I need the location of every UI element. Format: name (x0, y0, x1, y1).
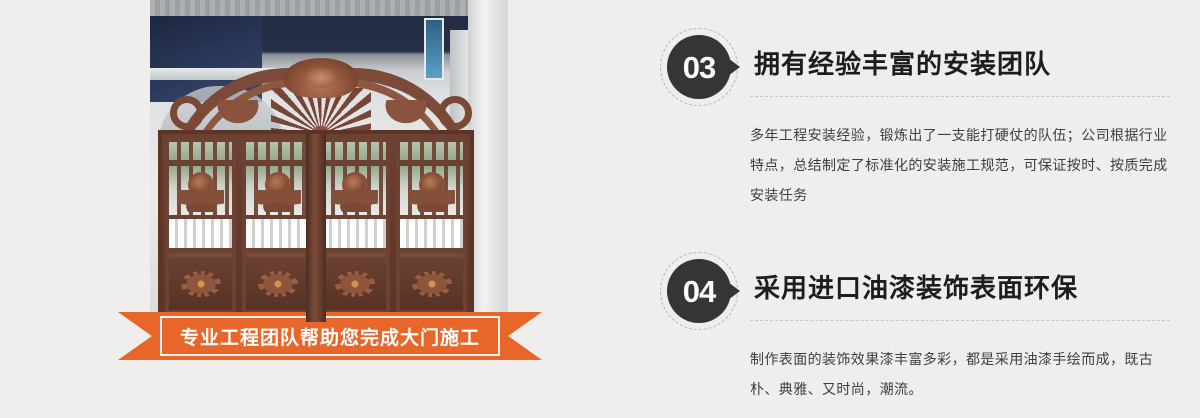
badge-disc: 04 (667, 259, 731, 323)
feature-description: 制作表面的装饰效果漆丰富多彩，都是采用油漆手绘而成，既古朴、典雅、又时尚，潮流。 (750, 344, 1170, 404)
gate-rosette (258, 271, 298, 297)
gate-base-panel (169, 253, 232, 310)
building-cornice (150, 0, 508, 16)
crown-scroll-right (438, 96, 472, 130)
gate-base-panel (323, 253, 386, 310)
feature-item-03: 03 拥有经验丰富的安装团队 多年工程安装经验，锻炼出了一支能打硬仗的队伍；公司… (660, 28, 1170, 210)
crown-leaf-right (380, 100, 432, 128)
gate-panel (165, 138, 236, 314)
feature-divider (750, 96, 1170, 97)
gate-medallion (409, 172, 455, 212)
gate-base-panel (246, 253, 309, 310)
gate-body (158, 130, 474, 322)
gate-panel (396, 138, 467, 314)
gate-balustrade (169, 215, 232, 253)
ribbon-banner: 专业工程团队帮助您完成大门施工 (118, 312, 542, 360)
badge-number: 04 (683, 276, 715, 307)
medallion-wings (178, 190, 224, 212)
feature-title: 采用进口油漆装饰表面环保 (754, 268, 1078, 305)
medallion-wings (255, 190, 301, 212)
gate-panel (242, 138, 313, 314)
crown-scroll-left (170, 96, 204, 130)
badge-disc: 03 (667, 35, 731, 99)
gate-rosette (335, 271, 375, 297)
step-badge-03: 03 (660, 28, 738, 106)
gate-panel (319, 138, 390, 314)
step-badge-04: 04 (660, 252, 738, 330)
gate-base-panel (400, 253, 463, 310)
gate-balustrade (400, 215, 463, 253)
gate-medallion (255, 172, 301, 212)
gate-medallion (332, 172, 378, 212)
building-column-right (468, 0, 508, 322)
crown-shell-crest (284, 58, 358, 98)
gate-rosette (181, 271, 221, 297)
feature-divider (750, 320, 1170, 321)
gate-center-mullion (306, 134, 326, 322)
gate-medallion (178, 172, 224, 212)
ribbon-inner-plate: 专业工程团队帮助您完成大门施工 (160, 316, 500, 356)
gate-balustrade (323, 215, 386, 253)
feature-description: 多年工程安装经验，锻炼出了一支能打硬仗的队伍；公司根据行业特点，总结制定了标准化… (750, 120, 1170, 210)
feature-header: 04 采用进口油漆装饰表面环保 (660, 252, 1170, 330)
gate-balustrade (246, 215, 309, 253)
feature-title: 拥有经验丰富的安装团队 (754, 44, 1051, 81)
feature-header: 03 拥有经验丰富的安装团队 (660, 28, 1170, 106)
feature-item-04: 04 采用进口油漆装饰表面环保 制作表面的装饰效果漆丰富多彩，都是采用油漆手绘而… (660, 252, 1170, 404)
feature-list: 03 拥有经验丰富的安装团队 多年工程安装经验，锻炼出了一支能打硬仗的队伍；公司… (660, 28, 1170, 418)
medallion-wings (332, 190, 378, 212)
gate-photo (150, 0, 508, 322)
medallion-wings (409, 190, 455, 212)
ribbon-caption: 专业工程团队帮助您完成大门施工 (180, 323, 480, 350)
gate-rosette (412, 271, 452, 297)
badge-number: 03 (683, 52, 715, 83)
crown-leaf-left (212, 100, 264, 128)
gate-crown-ornament (168, 52, 474, 132)
